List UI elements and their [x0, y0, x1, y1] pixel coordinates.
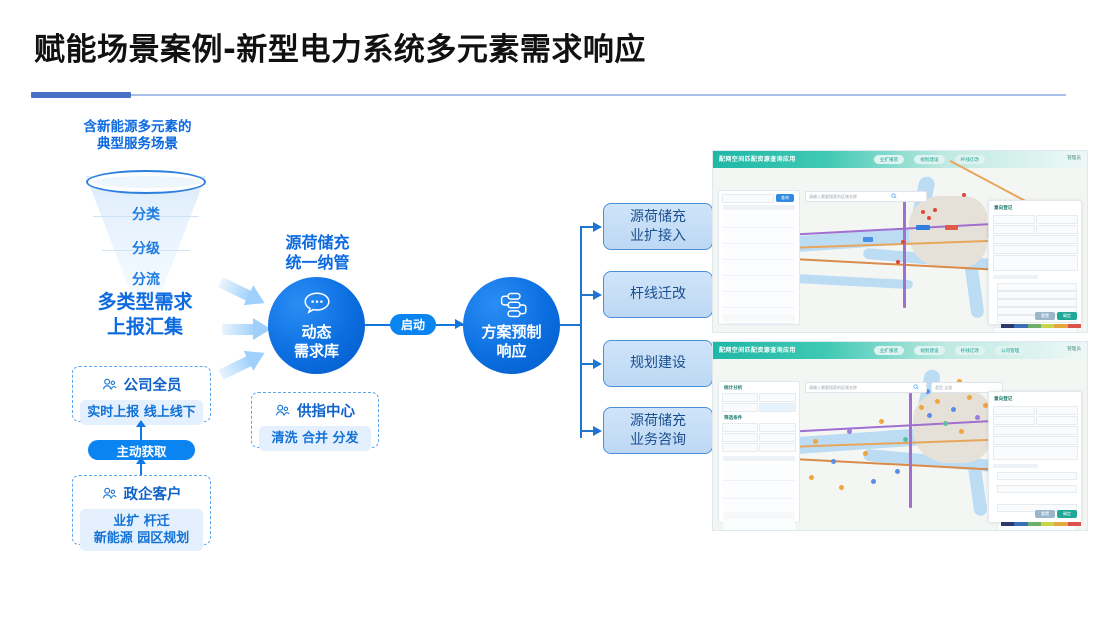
funnel-layer-distribute: 分流 — [86, 269, 206, 289]
form-radio-row[interactable] — [997, 472, 1077, 480]
workflow-process-icon — [497, 291, 527, 319]
screenshot-1-form-title: 意向登记 — [994, 205, 1012, 211]
form-radio-row[interactable] — [997, 485, 1077, 493]
map-marker[interactable] — [879, 419, 884, 424]
converge-arrow-3 — [216, 342, 272, 385]
map-label-chip — [945, 225, 958, 230]
funnel-caption-line1: 含新能源多元素的 — [60, 119, 215, 136]
screenshot-2-search-input[interactable]: 请输入需要搜索的区域名称 — [805, 382, 927, 393]
screenshot-2-nav[interactable]: 业扩报装 规划建设 杆线迁改 公司管理 — [874, 346, 1026, 355]
map-marker[interactable] — [896, 260, 900, 264]
screenshot-1-list-search-button[interactable]: 查询 — [776, 194, 794, 202]
connector-company — [140, 423, 142, 440]
screenshot-map-application-1[interactable]: 配网空间匹配资源查询应用 业扩报装 规划建设 杆线迁改 管理员 请输入需要搜索的… — [712, 150, 1088, 333]
form-field[interactable] — [993, 426, 1078, 435]
screenshot-1-list-search[interactable] — [722, 194, 774, 203]
funnel-rim — [86, 170, 206, 194]
form-field[interactable] — [1036, 416, 1078, 425]
screenshot-1-legend — [1001, 324, 1081, 328]
source-gov-chip-line2: 新能源 园区规划 — [82, 530, 201, 547]
circle1-line1: 动态 — [268, 323, 365, 342]
map-road-4 — [903, 198, 906, 308]
tree-stub — [560, 324, 582, 326]
tree-branch-arrow-2 — [593, 290, 602, 300]
page-title: 赋能场景案例-新型电力系统多元素需求响应 — [34, 24, 646, 69]
output-box-pole-line-relocation[interactable]: 杆线迁改 — [603, 271, 713, 318]
output-2-line1: 杆线迁改 — [630, 285, 686, 304]
tree-branch-3 — [580, 363, 594, 365]
title-rule-accent — [31, 92, 131, 98]
form-field[interactable] — [993, 406, 1035, 415]
tree-branch-arrow-4 — [593, 426, 602, 436]
source-gov-header: 政企客户 — [73, 480, 210, 506]
screenshot-2-side-panel[interactable]: 统计分析 筛选条件 — [718, 381, 800, 523]
table-header-row — [723, 205, 795, 210]
screenshot-1-intent-form[interactable]: 意向登记 重置 确定 — [988, 200, 1082, 325]
form-field[interactable] — [993, 225, 1035, 234]
connector-gov — [140, 460, 142, 475]
map-marker[interactable] — [927, 216, 931, 220]
source-gov-chip: 业扩 杆迁 新能源 园区规划 — [80, 509, 203, 551]
filter-chip[interactable] — [722, 443, 758, 452]
screenshot-2-form-title: 意向登记 — [994, 396, 1012, 402]
map-marker[interactable] — [831, 459, 836, 464]
screenshot-2-filter-label: 类型 全部 — [935, 385, 952, 391]
tree-branch-4 — [580, 430, 594, 432]
table-row[interactable] — [723, 213, 795, 228]
map-water-4 — [964, 262, 985, 318]
form-checkbox-row[interactable] — [997, 299, 1077, 307]
map-label-chip — [916, 225, 930, 230]
table-row[interactable] — [723, 245, 795, 260]
map-marker[interactable] — [967, 395, 972, 400]
map-marker[interactable] — [959, 429, 964, 434]
screenshot-1-search-input[interactable]: 请输入需要搜索的区域名称 — [805, 191, 927, 202]
form-submit-button[interactable]: 确定 — [1057, 312, 1077, 320]
funnel-subtitle-line1: 多类型需求 — [52, 290, 238, 315]
map-marker[interactable] — [809, 475, 814, 480]
circle2-line2: 响应 — [463, 342, 560, 361]
pagination-row[interactable] — [723, 314, 795, 321]
map-urban-area — [909, 196, 987, 268]
screenshot-2-map[interactable]: 请输入需要搜索的区域名称 类型 全部 统计分析 筛选条件 — [713, 359, 1087, 530]
form-checkbox-row[interactable] — [997, 283, 1077, 291]
map-marker[interactable] — [962, 193, 966, 197]
screenshot-2-user[interactable]: 管理员 — [1067, 346, 1081, 352]
filter-chip[interactable] — [759, 443, 796, 452]
form-section-title — [993, 275, 1038, 279]
form-field[interactable] — [993, 416, 1035, 425]
form-field[interactable] — [993, 436, 1078, 445]
screenshot-1-user[interactable]: 管理员 — [1067, 155, 1081, 161]
pill-start[interactable]: 启动 — [390, 314, 436, 335]
screenshot-1-search-placeholder: 请输入需要搜索的区域名称 — [809, 194, 857, 200]
map-marker[interactable] — [813, 439, 818, 444]
source-box-government: 政企客户 业扩 杆迁 新能源 园区规划 — [72, 475, 211, 545]
map-marker[interactable] — [951, 407, 956, 412]
screenshot-1-map[interactable]: 请输入需要搜索的区域名称 查询 意向登记 — [713, 168, 1087, 332]
source-box-company: 公司全员 实时上报 线上线下 — [72, 366, 211, 422]
node-dynamic-demand-pool-label: 动态 需求库 — [268, 323, 365, 361]
table-row[interactable] — [723, 261, 795, 276]
node-plan-preset-response[interactable]: 方案预制 响应 — [463, 277, 560, 374]
tree-trunk — [580, 226, 582, 438]
map-marker[interactable] — [847, 429, 852, 434]
screenshot-2-filter-title: 筛选条件 — [724, 415, 742, 421]
filter-chip[interactable] — [722, 423, 758, 432]
map-marker[interactable] — [871, 479, 876, 484]
output-1-line2: 业扩接入 — [630, 227, 686, 246]
output-4-line1: 源荷储充 — [630, 412, 686, 431]
search-icon[interactable] — [913, 384, 919, 390]
form-textarea[interactable] — [993, 255, 1078, 271]
map-marker[interactable] — [943, 421, 948, 426]
table-header-row — [723, 456, 795, 461]
center-caption-line1: 源荷储充 — [255, 233, 380, 253]
table-row[interactable] — [723, 518, 795, 531]
group-people-icon — [275, 404, 290, 417]
form-section-title — [993, 464, 1038, 468]
map-marker[interactable] — [975, 415, 980, 420]
center-caption: 源荷储充 统一纳管 — [255, 233, 380, 273]
screenshot-2-nav-item-0[interactable]: 业扩报装 — [874, 346, 904, 355]
screenshot-2-intent-form[interactable]: 意向登记 重置 确定 — [988, 391, 1082, 523]
map-road-4 — [909, 393, 912, 508]
map-marker[interactable] — [901, 240, 905, 244]
form-field[interactable] — [1036, 406, 1078, 415]
map-marker[interactable] — [933, 208, 937, 212]
funnel-rim-inner — [94, 176, 200, 188]
screenshot-1-nav-item-1[interactable]: 规划建设 — [914, 155, 944, 164]
tree-branch-2 — [580, 294, 594, 296]
converge-arrow-2 — [222, 318, 274, 340]
screenshot-2-search-placeholder: 请输入需要搜索的区域名称 — [809, 385, 857, 391]
source-box-supply-center: 供指中心 清洗 合并 分发 — [251, 392, 379, 448]
form-reset-button[interactable]: 重置 — [1035, 312, 1055, 320]
output-4-line2: 业务咨询 — [630, 431, 686, 450]
search-icon[interactable] — [891, 193, 897, 199]
stat-card — [722, 403, 758, 412]
screenshot-2-title: 配网空间匹配资源查询应用 — [719, 345, 796, 354]
node-dynamic-demand-pool[interactable]: 动态 需求库 — [268, 277, 365, 374]
form-textarea[interactable] — [993, 446, 1078, 460]
screenshot-1-nav-item-2[interactable]: 杆线迁改 — [955, 155, 985, 164]
pagination-row[interactable] — [723, 512, 795, 519]
funnel-layer-grade: 分级 — [86, 238, 206, 258]
center-caption-line2: 统一纳管 — [255, 253, 380, 273]
screenshot-1-nav-item-0[interactable]: 业扩报装 — [874, 155, 904, 164]
tree-branch-arrow-3 — [593, 359, 602, 369]
map-label-chip — [863, 237, 873, 242]
map-marker[interactable] — [895, 469, 900, 474]
source-company-label: 公司全员 — [124, 374, 182, 395]
form-field[interactable] — [1036, 215, 1078, 224]
table-row[interactable] — [723, 293, 795, 308]
screenshot-1-nav[interactable]: 业扩报装 规划建设 杆线迁改 — [874, 155, 985, 164]
group-people-icon — [102, 378, 117, 391]
form-field[interactable] — [993, 245, 1078, 254]
map-marker[interactable] — [927, 413, 932, 418]
table-row[interactable] — [723, 229, 795, 244]
circle2-line1: 方案预制 — [463, 323, 560, 342]
table-row[interactable] — [723, 464, 795, 481]
circle1-line2: 需求库 — [268, 342, 365, 361]
funnel-subtitle: 多类型需求 上报汇集 — [52, 290, 238, 340]
source-gov-label: 政企客户 — [124, 483, 182, 504]
form-field[interactable] — [993, 235, 1078, 244]
stat-card — [759, 393, 796, 402]
tree-branch-arrow-1 — [593, 222, 602, 232]
screenshot-2-nav-item-3[interactable]: 公司管理 — [995, 346, 1025, 355]
map-marker[interactable] — [863, 451, 868, 456]
map-marker[interactable] — [839, 485, 844, 490]
screenshot-2-legend — [1001, 522, 1081, 526]
output-1-line1: 源荷储充 — [630, 208, 686, 227]
funnel-graphic: 分类 分级 分流 — [86, 170, 206, 295]
stat-card — [722, 393, 758, 402]
map-marker[interactable] — [903, 437, 908, 442]
source-company-header: 公司全员 — [73, 371, 210, 397]
supply-center-chip: 清洗 合并 分发 — [259, 426, 371, 451]
map-marker[interactable] — [935, 399, 940, 404]
map-urban-area — [913, 391, 991, 463]
node-plan-preset-response-label: 方案预制 响应 — [463, 323, 560, 361]
map-marker[interactable] — [919, 405, 924, 410]
title-rule-line — [131, 94, 1066, 96]
map-marker[interactable] — [921, 210, 925, 214]
table-row[interactable] — [723, 482, 795, 499]
form-field[interactable] — [993, 215, 1035, 224]
output-3-line1: 规划建设 — [630, 354, 686, 373]
supply-center-header: 供指中心 — [252, 397, 378, 423]
funnel-caption-line2: 典型服务场景 — [60, 136, 215, 153]
stat-card — [759, 403, 796, 412]
group-people-icon — [102, 487, 117, 500]
table-row[interactable] — [723, 277, 795, 292]
output-box-business-consulting[interactable]: 源荷储充 业务咨询 — [603, 407, 713, 454]
screenshot-2-nav-item-2[interactable]: 杆线迁改 — [955, 346, 985, 355]
tree-branch-1 — [580, 226, 594, 228]
chat-bubble-dots-icon — [302, 291, 332, 317]
form-field[interactable] — [1036, 225, 1078, 234]
funnel-layer-classify: 分类 — [86, 204, 206, 224]
source-gov-chip-line1: 业扩 杆迁 — [82, 513, 201, 530]
form-checkbox-row[interactable] — [997, 291, 1077, 299]
filter-chip[interactable] — [722, 433, 758, 442]
funnel-caption: 含新能源多元素的 典型服务场景 — [60, 119, 215, 153]
output-box-planning-construction[interactable]: 规划建设 — [603, 340, 713, 387]
screenshot-1-result-list[interactable]: 查询 — [718, 190, 800, 325]
output-box-expansion-access[interactable]: 源荷储充 业扩接入 — [603, 203, 713, 250]
screenshot-map-application-2[interactable]: 配网空间匹配资源查询应用 业扩报装 规划建设 杆线迁改 公司管理 管理员 — [712, 341, 1088, 531]
screenshot-2-stats-title: 统计分析 — [724, 385, 742, 391]
filter-chip[interactable] — [759, 433, 796, 442]
funnel-subtitle-line2: 上报汇集 — [52, 315, 238, 340]
supply-center-label: 供指中心 — [297, 400, 355, 421]
screenshot-1-title: 配网空间匹配资源查询应用 — [719, 154, 796, 163]
filter-chip[interactable] — [759, 423, 796, 432]
form-submit-button[interactable]: 确定 — [1057, 510, 1077, 518]
screenshot-2-nav-item-1[interactable]: 规划建设 — [914, 346, 944, 355]
form-reset-button[interactable]: 重置 — [1035, 510, 1055, 518]
